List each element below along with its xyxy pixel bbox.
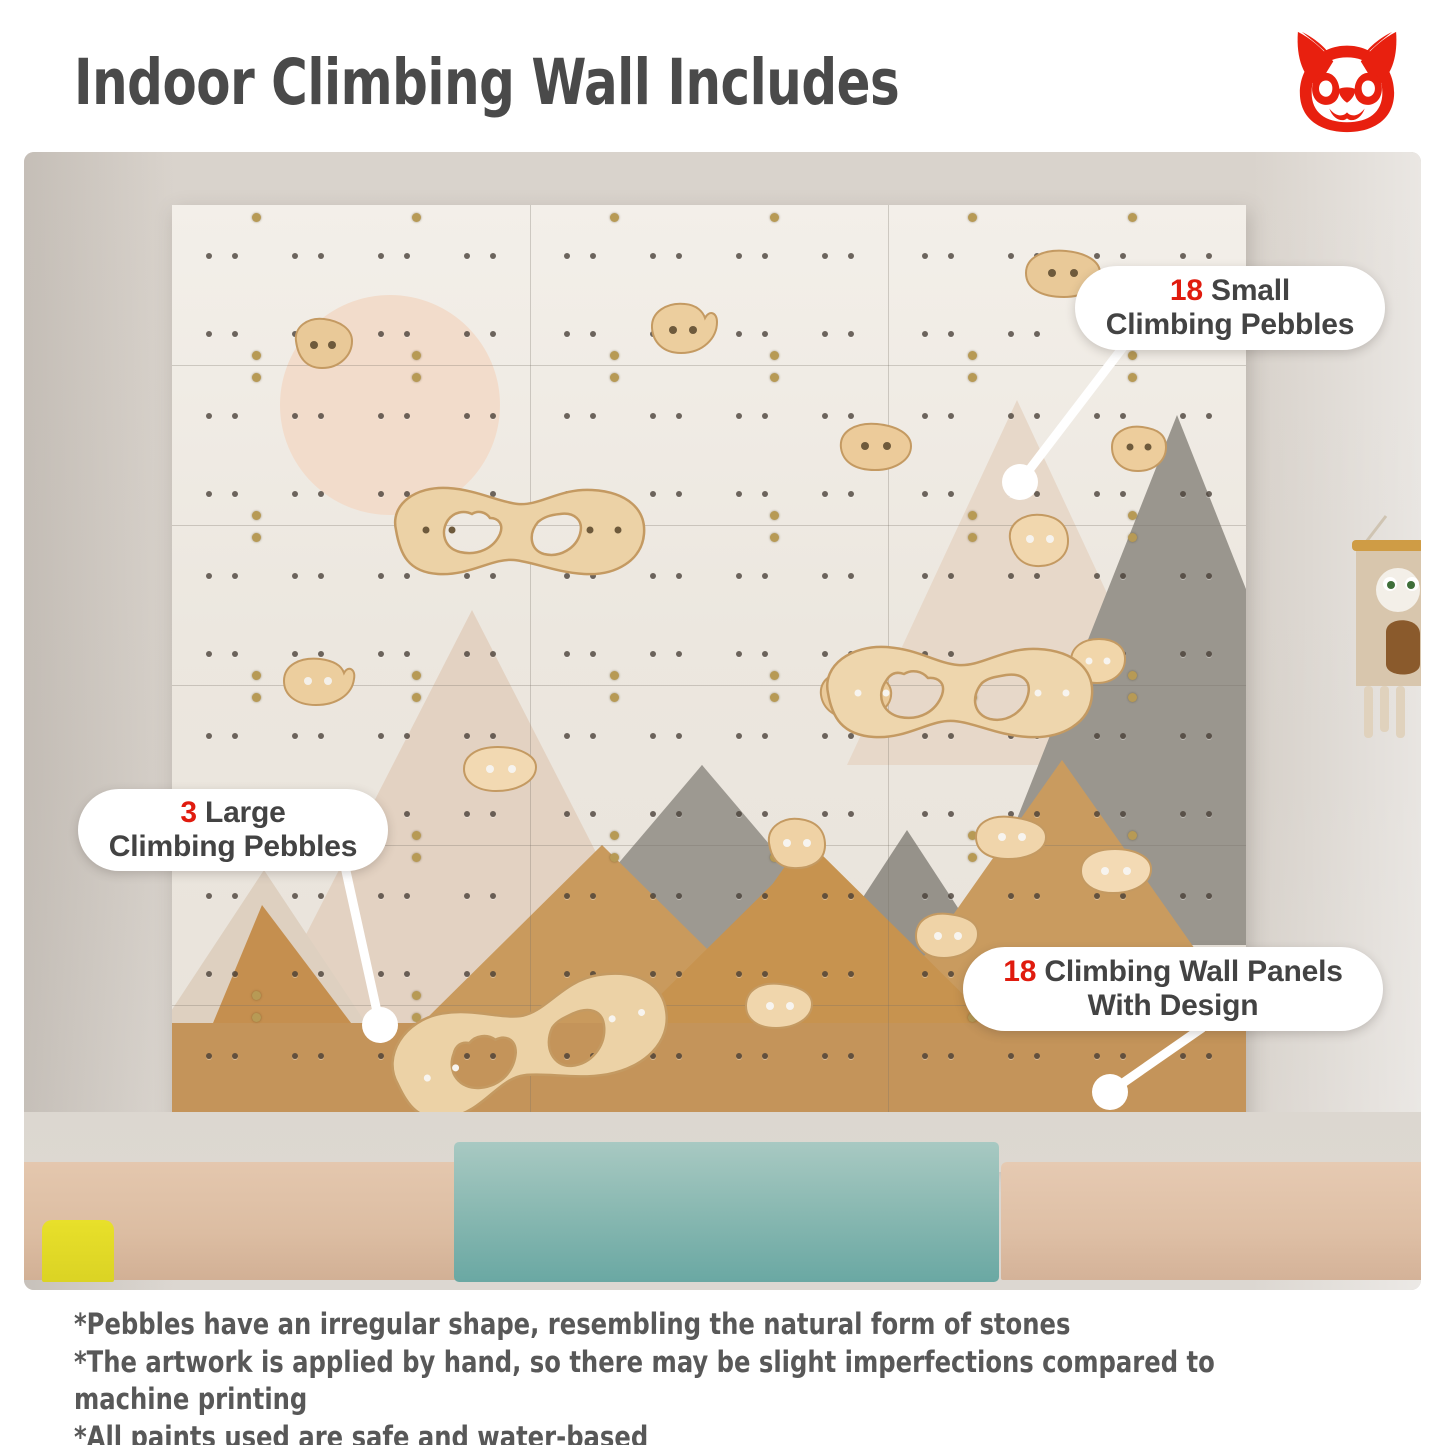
small-pebble-hold bbox=[280, 655, 358, 707]
callout-small-pebbles: 18 Small Climbing Pebbles bbox=[1075, 266, 1385, 350]
small-pebble-hold bbox=[742, 980, 816, 1032]
callout-small-pebbles-line1: Small bbox=[1203, 274, 1290, 307]
leader-line-wall-panels bbox=[1080, 1020, 1220, 1130]
callout-large-pebbles-line2: Climbing Pebbles bbox=[109, 830, 358, 863]
callout-wall-panels-line2: With Design bbox=[1088, 989, 1259, 1022]
footnote-1: *Pebbles have an irregular shape, resemb… bbox=[74, 1306, 1274, 1344]
header: Indoor Climbing Wall Includes bbox=[0, 0, 1445, 148]
small-pebble-hold bbox=[912, 910, 982, 962]
callout-large-pebbles-text: 3 Large Climbing Pebbles bbox=[109, 796, 358, 863]
infographic-page: Indoor Climbing Wall Includes bbox=[0, 0, 1445, 1445]
teal-crash-mat bbox=[454, 1142, 999, 1282]
callout-wall-panels-qty: 18 bbox=[1003, 955, 1036, 988]
macrame-wall-hanging-decor bbox=[1346, 512, 1421, 812]
leader-line-large-pebbles bbox=[320, 845, 440, 1055]
small-pebble-hold bbox=[460, 743, 540, 795]
leader-line-small-pebbles bbox=[990, 330, 1160, 500]
callout-large-pebbles-qty: 3 bbox=[180, 796, 197, 829]
small-pebble-hold bbox=[1004, 511, 1072, 569]
callout-large-pebbles-line1: Large bbox=[197, 796, 286, 829]
small-pebble-hold bbox=[1077, 845, 1155, 897]
callout-small-pebbles-qty: 18 bbox=[1170, 274, 1203, 307]
callout-small-pebbles-line2: Climbing Pebbles bbox=[1106, 308, 1355, 341]
footnotes: *Pebbles have an irregular shape, resemb… bbox=[74, 1306, 1274, 1445]
page-title: Indoor Climbing Wall Includes bbox=[74, 46, 899, 119]
callout-wall-panels-text: 18 Climbing Wall Panels With Design bbox=[1003, 955, 1342, 1022]
small-pebble-hold bbox=[972, 813, 1050, 863]
red-panda-logo bbox=[1288, 26, 1406, 136]
large-pebble-hold bbox=[812, 635, 1102, 747]
small-pebble-hold bbox=[288, 315, 356, 371]
small-pebble-hold bbox=[647, 300, 719, 356]
callout-wall-panels-line1: Climbing Wall Panels bbox=[1036, 955, 1342, 988]
floor-and-mats bbox=[24, 1122, 1421, 1290]
footnote-3: *All paints used are safe and water-base… bbox=[74, 1419, 1274, 1445]
small-pebble-hold bbox=[837, 420, 915, 472]
callout-small-pebbles-text: 18 Small Climbing Pebbles bbox=[1106, 274, 1355, 341]
footnote-2: *The artwork is applied by hand, so ther… bbox=[74, 1344, 1274, 1419]
small-pebble-hold bbox=[763, 815, 829, 871]
large-pebble-hold bbox=[378, 478, 653, 584]
callout-wall-panels: 18 Climbing Wall Panels With Design bbox=[963, 947, 1383, 1031]
yellow-foam-block bbox=[42, 1220, 114, 1282]
callout-large-pebbles: 3 Large Climbing Pebbles bbox=[78, 789, 388, 871]
beige-floor-mat-right bbox=[1001, 1162, 1421, 1280]
